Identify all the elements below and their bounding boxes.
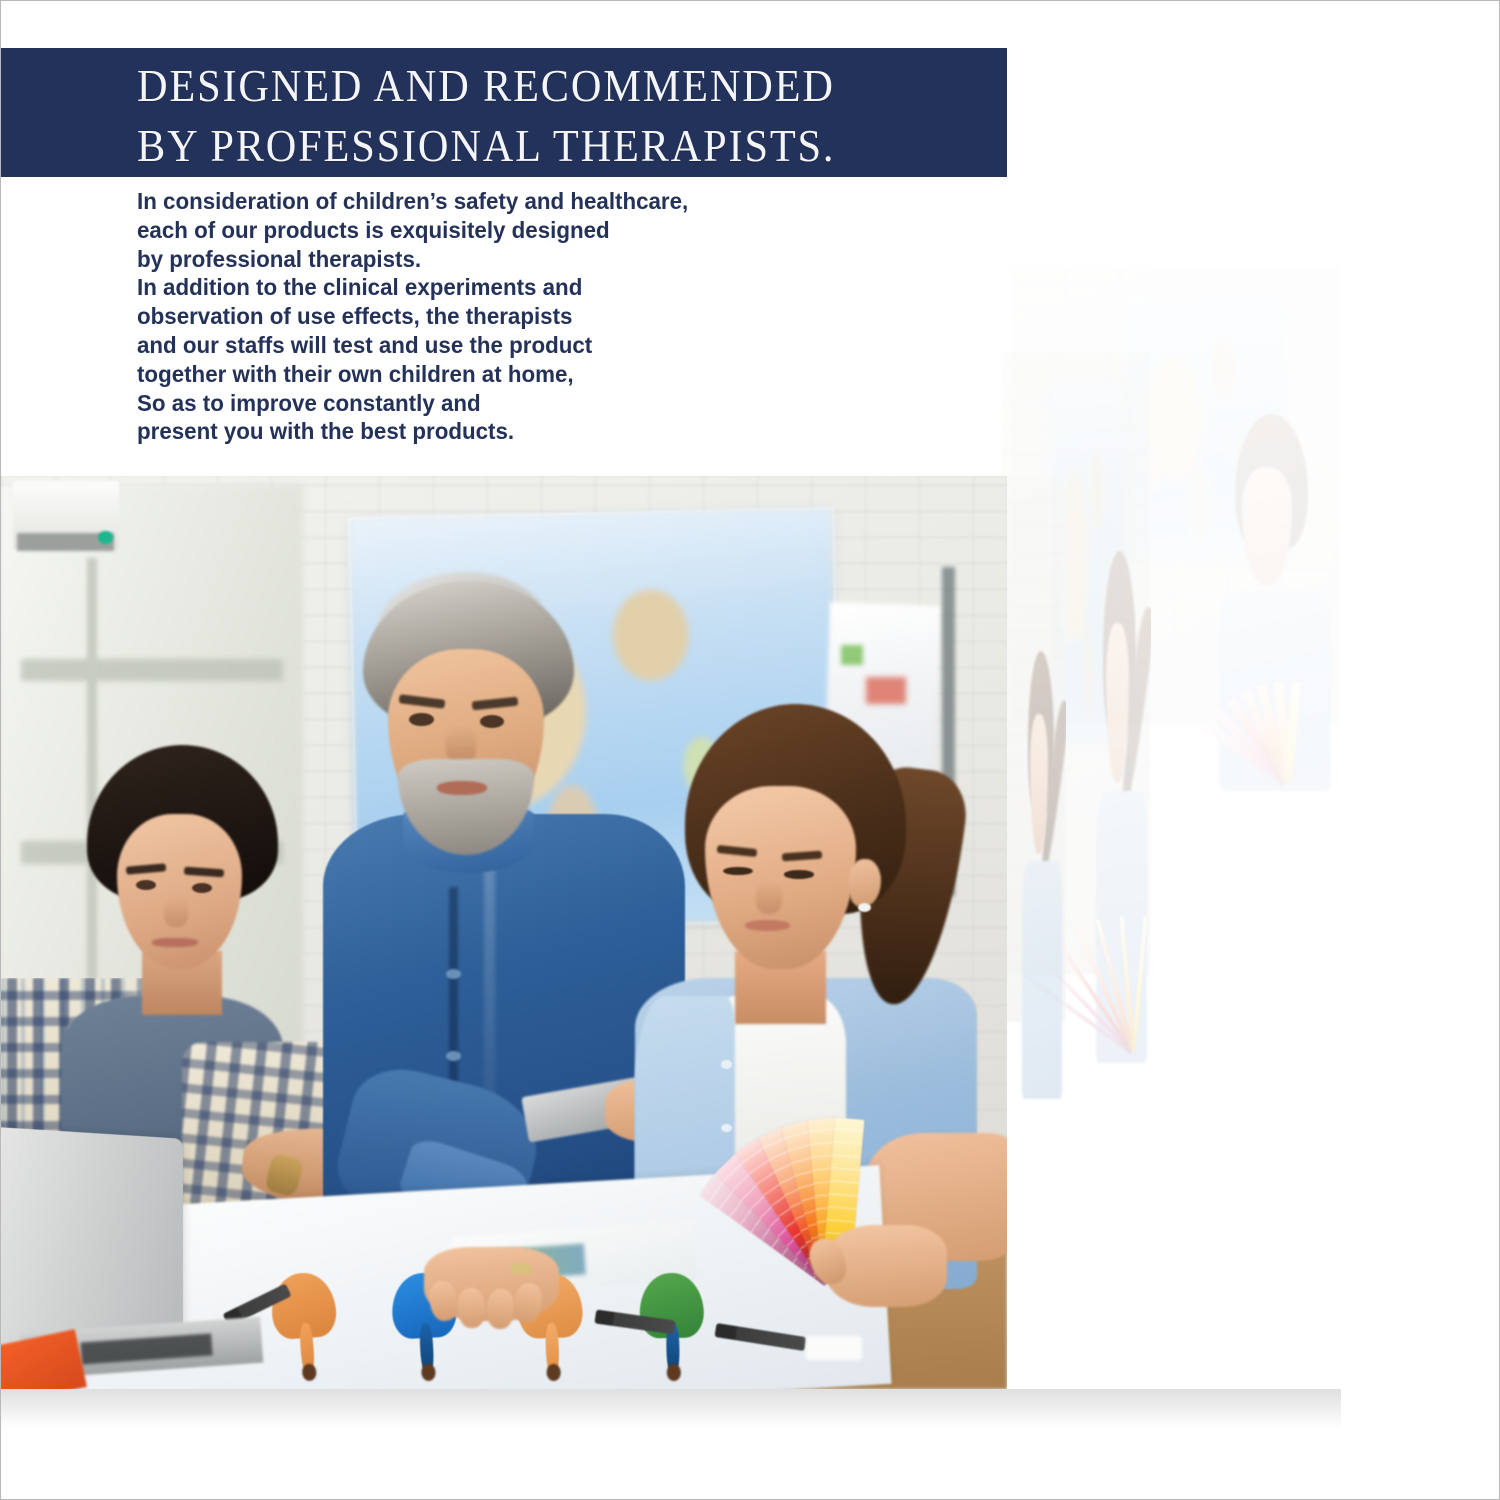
boy-nose [164, 898, 188, 927]
body-line-5: observation of use effects, the therapis… [137, 302, 840, 331]
promo-page: DESIGNED AND RECOMMENDED BY PROFESSIONAL… [0, 0, 1500, 1500]
shelf-upper [21, 659, 283, 682]
woman-mouth [745, 920, 789, 931]
photo-scene [1, 476, 1007, 1389]
woman-nose [756, 881, 782, 914]
woman-eye-left [723, 867, 753, 875]
body-line-8: So as to improve constantly and [137, 389, 840, 418]
photo-drop-shadow [1, 1389, 1341, 1429]
redaction-patch [806, 1336, 862, 1360]
main-photo [1, 476, 1007, 1389]
man-mouth [437, 781, 487, 795]
ghost-woman-shirt [1219, 591, 1331, 792]
wall-poster-accent-red [866, 677, 906, 704]
page-title-line-2: BY PROFESSIONAL THERAPISTS. [137, 116, 937, 176]
man-finger-2 [457, 1287, 486, 1329]
ghost-fan-deck [1234, 680, 1320, 789]
body-paragraph: In consideration of children’s safety an… [137, 187, 877, 446]
body-line-9: present you with the best products. [137, 417, 840, 446]
man-eye-right [480, 715, 504, 728]
body-line-3: by professional therapists. [137, 245, 840, 274]
ghost-photo-layer-far [1011, 266, 1341, 856]
woman-shirt-button-1 [721, 1060, 732, 1068]
title-banner: DESIGNED AND RECOMMENDED BY PROFESSIONAL… [1, 48, 1007, 177]
ghost-photo-layer-near [1001, 351, 1151, 1151]
wall-poster-accent-green [841, 645, 863, 665]
ghost-wall [1011, 266, 1341, 726]
ghost-woman-hair [1235, 414, 1308, 550]
man-eye-left [409, 713, 433, 726]
man-shirt-button-2 [446, 1051, 461, 1061]
man-wedding-ring-icon [510, 1263, 532, 1275]
status-led-icon [98, 531, 113, 544]
ghost-woman-face [1242, 467, 1292, 585]
body-line-6: and our staffs will test and use the pro… [137, 331, 840, 360]
body-line-2: each of our products is exquisitely desi… [137, 216, 840, 245]
boy-mouth [152, 938, 198, 947]
woman-eye-right [784, 870, 814, 878]
body-line-4: In addition to the clinical experiments … [137, 273, 840, 302]
body-line-1: In consideration of children’s safety an… [137, 187, 840, 216]
body-line-7: together with their own children at home… [137, 360, 840, 389]
man-shirt-button-1 [446, 969, 461, 979]
ghost-map [1124, 288, 1288, 557]
page-title-line-1: DESIGNED AND RECOMMENDED [137, 48, 937, 116]
